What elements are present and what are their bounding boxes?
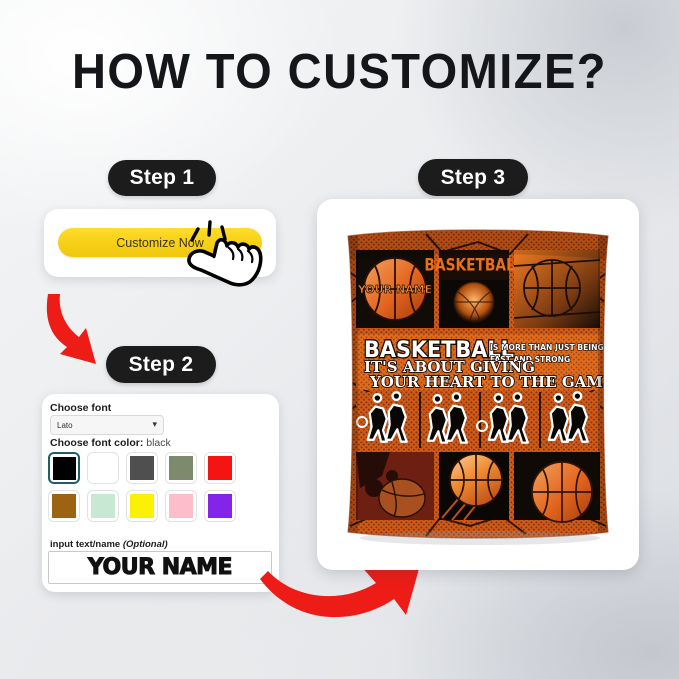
swatch-brown[interactable]: [48, 490, 80, 522]
choose-font-color-label: Choose font color: black: [50, 437, 171, 449]
input-text-name-label-optional: (Optional): [123, 539, 168, 550]
choose-font-color-prefix: Choose font color:: [50, 437, 143, 449]
font-select-value: Lato: [51, 421, 73, 430]
swatch-red[interactable]: [204, 452, 236, 484]
chevron-down-icon: ▾: [152, 420, 157, 429]
swatch-row: [48, 490, 238, 522]
swatch-mint[interactable]: [87, 490, 119, 522]
blanket-quote-tail-a: IS MORE THAN JUST BEING: [490, 343, 604, 352]
input-text-name-label: input text/name (Optional): [50, 539, 168, 550]
step-1-badge: Step 1: [108, 160, 216, 196]
choose-font-label: Choose font: [50, 402, 111, 414]
blanket-title-text: BASKETBALL: [424, 255, 523, 275]
step-3-badge: Step 3: [418, 159, 528, 196]
swatch-black[interactable]: [48, 452, 80, 484]
input-text-name-label-main: input text/name: [50, 539, 120, 550]
pointing-hand-icon: [172, 216, 276, 308]
page-root: HOW TO CUSTOMIZE? Step 1 Customize Now S…: [0, 0, 679, 679]
basketball-blanket-product-image: YOUR NAME BASKETBALL: [330, 226, 626, 546]
font-select[interactable]: Lato ▾: [50, 415, 164, 435]
swatch-yellow[interactable]: [126, 490, 158, 522]
choose-font-color-value: black: [146, 437, 171, 449]
swatch-sage-green[interactable]: [165, 452, 197, 484]
blanket-name-text: YOUR NAME: [357, 283, 432, 296]
swatch-row: [48, 452, 238, 484]
swatch-white[interactable]: [87, 452, 119, 484]
step-2-badge: Step 2: [106, 346, 216, 383]
page-title: HOW TO CUSTOMIZE?: [14, 44, 666, 100]
blanket-quote-line3: YOUR HEART TO THE GAME: [369, 373, 614, 391]
swatch-purple[interactable]: [204, 490, 236, 522]
swatch-dark-grey[interactable]: [126, 452, 158, 484]
swatch-pink[interactable]: [165, 490, 197, 522]
name-input-value: YOUR NAME: [88, 555, 232, 580]
color-swatch-grid: [48, 452, 238, 528]
name-input-field[interactable]: YOUR NAME: [48, 551, 272, 584]
